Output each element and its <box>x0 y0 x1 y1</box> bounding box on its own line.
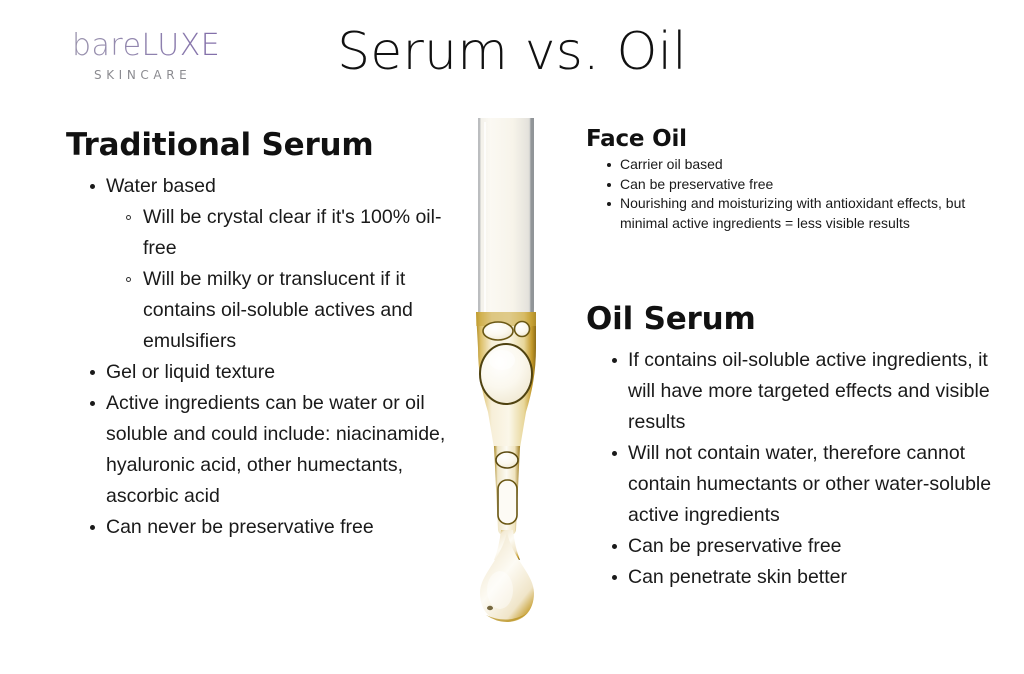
bullet-list-face-oil: Carrier oil based Can be preservative fr… <box>604 155 1006 233</box>
section-oil-serum: Oil Serum If contains oil-soluble active… <box>586 302 1016 593</box>
list-item: Can penetrate skin better <box>608 562 1016 593</box>
bullet-text: Can be preservative free <box>620 176 773 192</box>
list-item: Can never be preservative free <box>86 512 458 543</box>
section-heading-face-oil: Face Oil <box>586 126 1006 152</box>
bullet-list-traditional-serum: Water based Will be crystal clear if it'… <box>86 171 458 543</box>
list-item: Carrier oil based <box>604 155 1006 175</box>
bullet-text: Water based <box>106 175 216 197</box>
list-item: Water based Will be crystal clear if it'… <box>86 171 458 357</box>
bullet-text: Nourishing and moisturizing with antioxi… <box>620 195 965 231</box>
oil-bubble <box>515 322 530 337</box>
list-item: Nourishing and moisturizing with antioxi… <box>604 194 1006 233</box>
list-item: Will be milky or translucent if it conta… <box>122 264 458 357</box>
bullet-text: Gel or liquid texture <box>106 361 275 383</box>
sub-bullet-text: Will be milky or translucent if it conta… <box>143 268 413 352</box>
oil-bubble <box>496 452 518 468</box>
bullet-text: Can be preservative free <box>628 535 842 557</box>
section-face-oil: Face Oil Carrier oil based Can be preser… <box>586 126 1006 233</box>
bullet-text: Can penetrate skin better <box>628 566 847 588</box>
infographic-page: bareLUXE SKINCARE Serum vs. Oil Traditio… <box>0 0 1024 674</box>
bullet-text: If contains oil-soluble active ingredien… <box>628 349 990 433</box>
section-heading-oil-serum: Oil Serum <box>586 302 1016 338</box>
sub-bullet-text: Will be crystal clear if it's 100% oil-f… <box>143 206 441 259</box>
sub-bullet-list: Will be crystal clear if it's 100% oil-f… <box>122 202 458 357</box>
bullet-text: Will not contain water, therefore cannot… <box>628 442 991 526</box>
bullet-text: Can never be preservative free <box>106 516 374 538</box>
oil-dropper-pipette-image <box>460 112 570 622</box>
section-traditional-serum: Traditional Serum Water based Will be cr… <box>66 128 458 543</box>
oil-bubble <box>498 480 517 524</box>
bullet-text: Carrier oil based <box>620 156 723 172</box>
list-item: Gel or liquid texture <box>86 357 458 388</box>
list-item: If contains oil-soluble active ingredien… <box>608 345 1016 438</box>
list-item: Will not contain water, therefore cannot… <box>608 438 1016 531</box>
list-item: Can be preservative free <box>604 175 1006 195</box>
bullet-list-oil-serum: If contains oil-soluble active ingredien… <box>608 345 1016 593</box>
section-heading-traditional-serum: Traditional Serum <box>66 128 458 164</box>
list-item: Active ingredients can be water or oil s… <box>86 388 458 512</box>
oil-bubble <box>483 322 513 340</box>
list-item: Can be preservative free <box>608 531 1016 562</box>
pipette-glass-tube <box>478 118 534 330</box>
bullet-text: Active ingredients can be water or oil s… <box>106 392 445 507</box>
page-title: Serum vs. Oil <box>0 24 1024 81</box>
list-item: Will be crystal clear if it's 100% oil-f… <box>122 202 458 264</box>
